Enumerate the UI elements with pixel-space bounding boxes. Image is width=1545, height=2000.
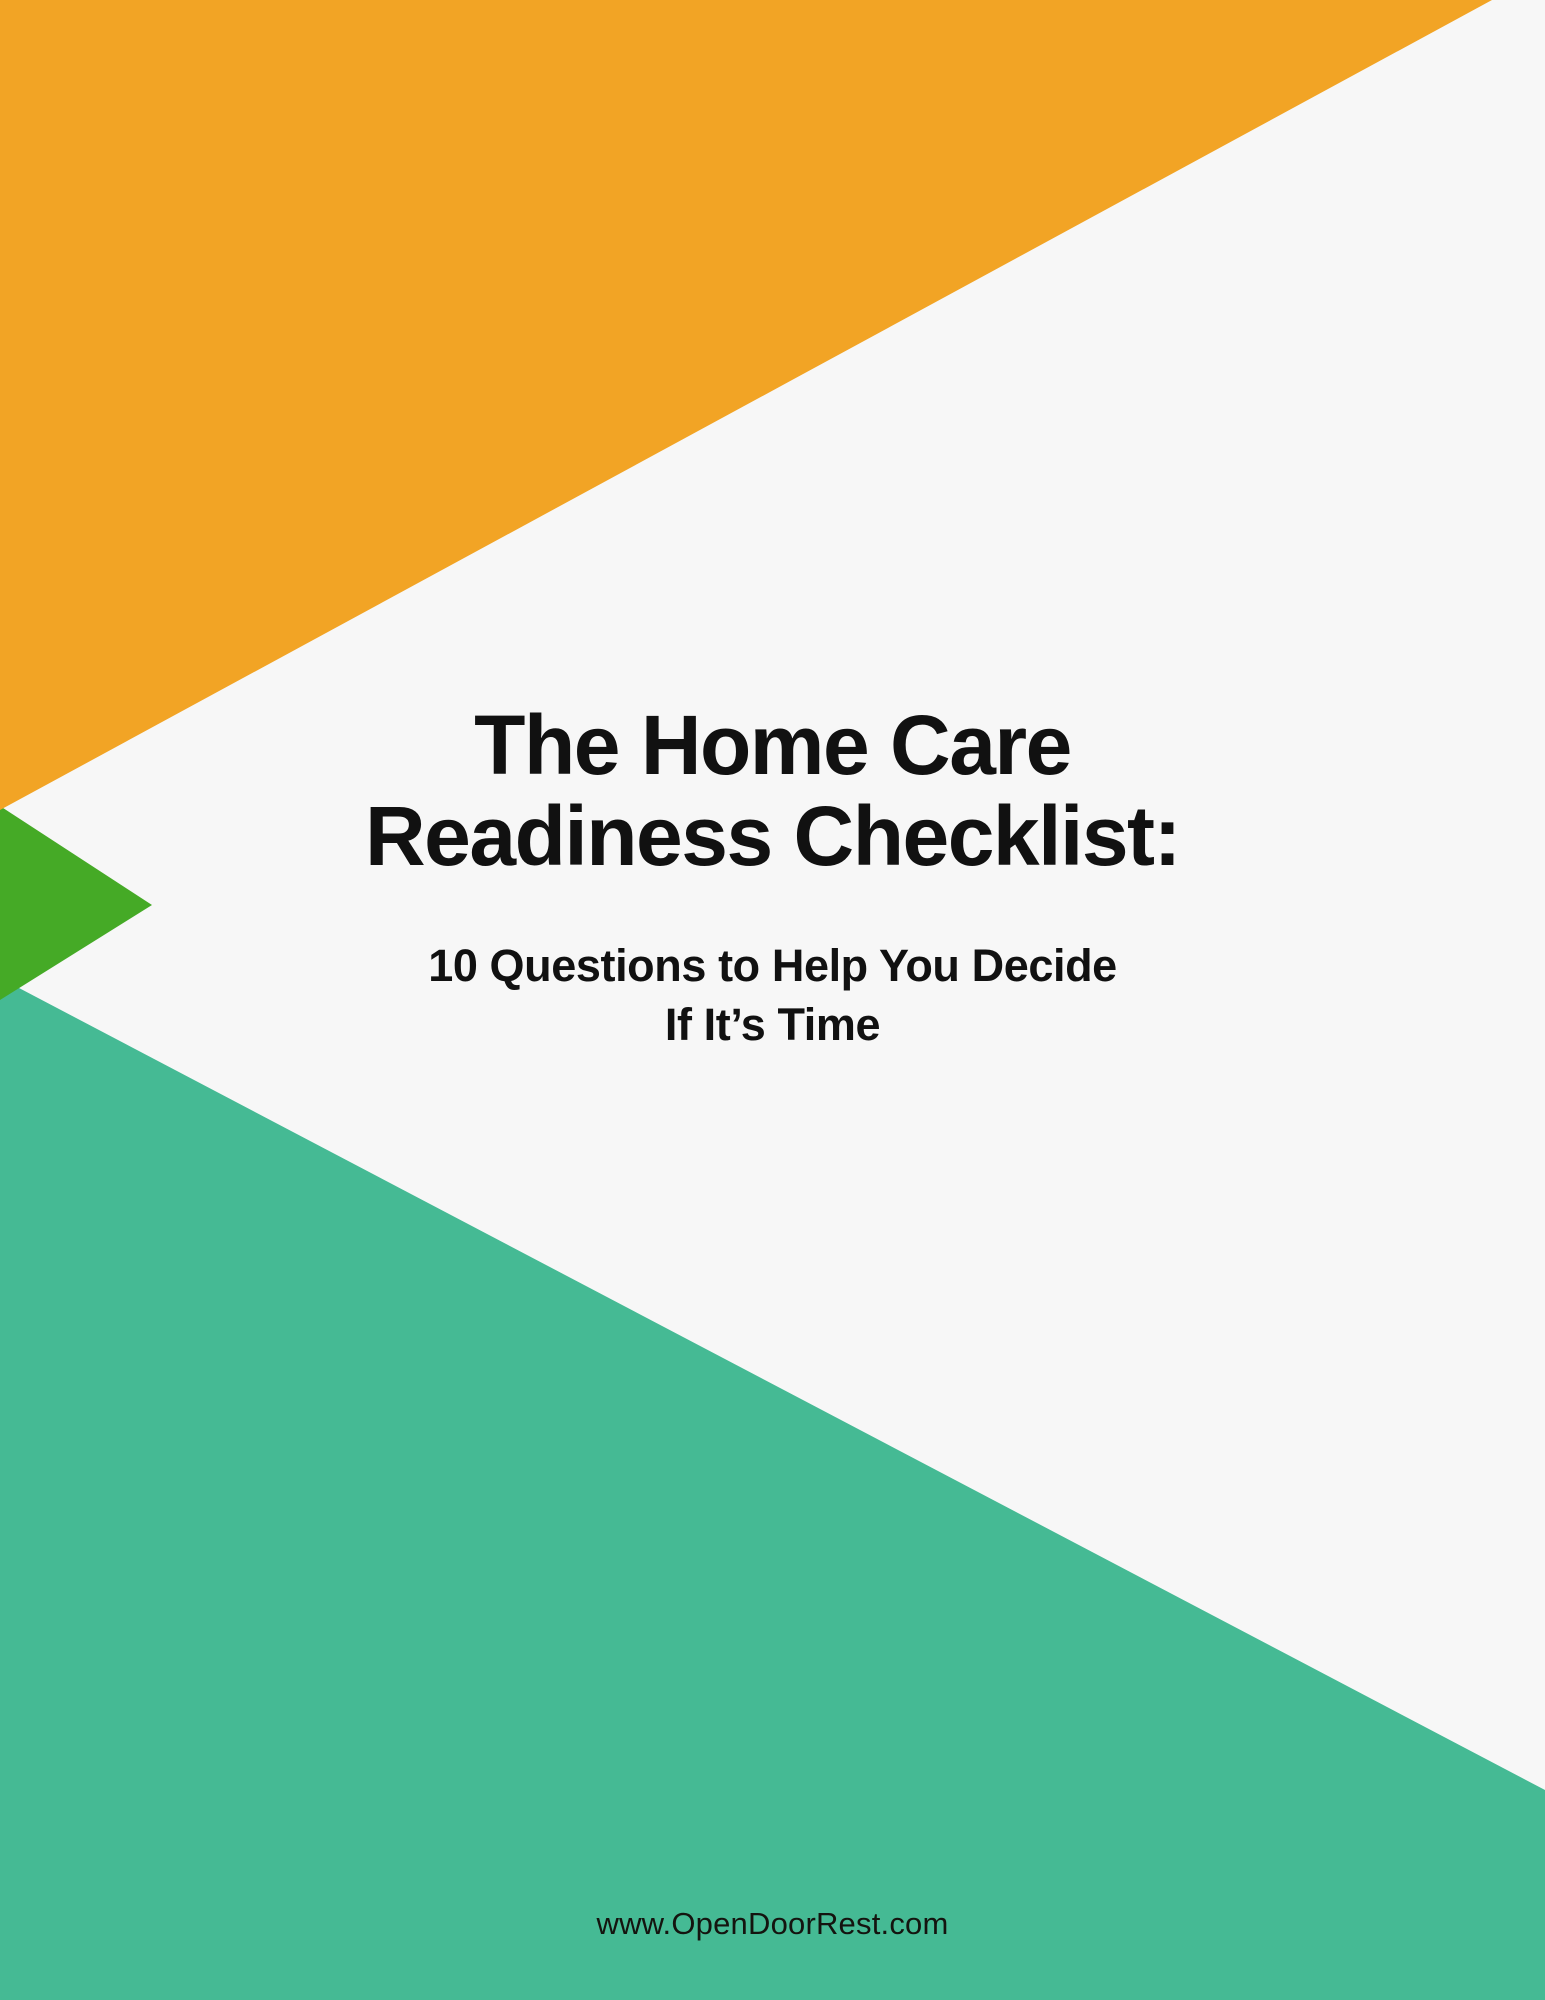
title-block: The Home Care Readiness Checklist: 10 Qu… xyxy=(0,700,1545,1054)
page-title-line-2: Readiness Checklist: xyxy=(365,789,1180,883)
page-subtitle: 10 Questions to Help You Decide If It’s … xyxy=(353,937,1193,1054)
page-title: The Home Care Readiness Checklist: xyxy=(313,700,1233,881)
page-subtitle-line-1: 10 Questions to Help You Decide xyxy=(428,940,1117,991)
cover-content: The Home Care Readiness Checklist: 10 Qu… xyxy=(0,0,1545,2000)
page-subtitle-line-2: If It’s Time xyxy=(665,999,880,1050)
page-title-line-1: The Home Care xyxy=(474,698,1071,792)
footer: www.OpenDoorRest.com xyxy=(0,1906,1545,1942)
website-url-link[interactable]: www.OpenDoorRest.com xyxy=(596,1906,948,1941)
document-cover-page: The Home Care Readiness Checklist: 10 Qu… xyxy=(0,0,1545,2000)
